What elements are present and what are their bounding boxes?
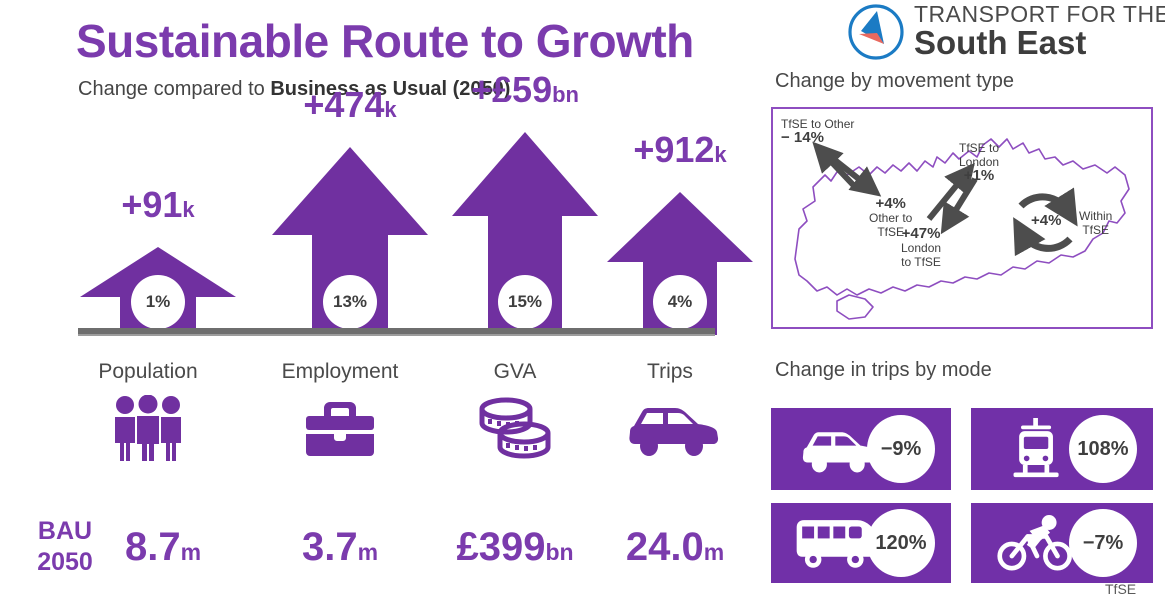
footer-tag: TfSE	[1105, 581, 1136, 597]
bau-value-employment: 3.7m	[285, 527, 395, 567]
category-label: GVA	[445, 360, 585, 384]
growth-arrow-gva: +£59bn 15%	[450, 130, 600, 335]
caption-london-to-tfse: Londonto TfSE	[901, 241, 941, 269]
growth-value-gva: +£59bn	[471, 72, 579, 108]
growth-percent-gva: 15%	[498, 275, 552, 329]
movement-section-heading: Change by movement type	[775, 70, 1014, 93]
movement-note-tfse-to-other: TfSE to Other − 14%	[781, 117, 854, 145]
bau-value-trips: 24.0m	[605, 527, 745, 567]
bau-label-line2: 2050	[26, 547, 104, 578]
chart-baseline	[78, 328, 715, 336]
mode-section-heading: Change in trips by mode	[775, 359, 992, 382]
category-population: Population	[78, 360, 218, 464]
mode-percent-cycling: −7%	[1069, 509, 1137, 577]
movement-note-within-tfse-percent: +4%	[1031, 214, 1061, 228]
category-label: Trips	[600, 360, 740, 384]
car-icon	[600, 392, 740, 464]
tfse-logo: TRANSPORT FOR THE South East	[846, 2, 1158, 64]
caption-tfse-to-london: TfSE toLondon	[959, 141, 999, 169]
people-icon	[78, 392, 218, 464]
subtitle-prefix: Change compared to	[78, 78, 270, 100]
category-label: Employment	[270, 360, 410, 384]
mode-percent-rail: 108%	[1069, 415, 1137, 483]
bau-label: BAU 2050	[26, 516, 104, 578]
category-trips: Trips	[600, 360, 740, 464]
mode-card-cycling[interactable]: −7%	[971, 503, 1153, 583]
growth-value-employment: +474k	[303, 87, 396, 123]
coins-icon	[445, 392, 585, 464]
mode-percent-bus: 120%	[867, 509, 935, 577]
bau-value-gva: £399bn	[440, 527, 590, 567]
growth-percent-employment: 13%	[323, 275, 377, 329]
logo-line-2: South East	[914, 26, 1164, 60]
category-gva: GVA	[445, 360, 585, 464]
growth-value-trips: +912k	[633, 132, 726, 168]
mode-card-bus[interactable]: 120%	[771, 503, 951, 583]
growth-percent-trips: 4%	[653, 275, 707, 329]
logo-line-1: TRANSPORT FOR THE	[914, 2, 1164, 26]
bau-label-line1: BAU	[26, 516, 104, 547]
tfse-arrow-logo-icon	[846, 2, 906, 62]
mode-card-car[interactable]: −9%	[771, 408, 951, 490]
briefcase-icon	[270, 392, 410, 464]
growth-arrow-trips: +912k 4%	[605, 190, 755, 335]
category-label: Population	[78, 360, 218, 384]
growth-arrow-population: +91k 1%	[78, 245, 238, 335]
caption-within-tfse: WithinTfSE	[1079, 209, 1112, 237]
growth-arrow-employment: +474k 13%	[270, 145, 430, 335]
growth-percent-population: 1%	[131, 275, 185, 329]
growth-arrow-chart: +91k 1% +474k 13% +£59bn 15%	[60, 100, 760, 335]
page-subtitle: Change compared to Business as Usual (20…	[78, 78, 510, 101]
infographic-canvas: Sustainable Route to Growth Change compa…	[0, 0, 1165, 608]
growth-value-population: +91k	[121, 187, 194, 223]
page-title: Sustainable Route to Growth	[76, 14, 694, 68]
movement-note-tfse-to-london: TfSE toLondon +1%	[959, 141, 999, 183]
logo-wordmark: TRANSPORT FOR THE South East	[914, 2, 1164, 60]
mode-percent-car: −9%	[867, 415, 935, 483]
category-employment: Employment	[270, 360, 410, 464]
bau-value-population: 8.7m	[108, 527, 218, 567]
mode-card-rail[interactable]: 108%	[971, 408, 1153, 490]
movement-note-london-to-tfse: +47% Londonto TfSE	[901, 227, 941, 269]
movement-map-panel: TfSE to Other − 14% +4% Other toTfSE TfS…	[771, 107, 1153, 329]
movement-note-within-tfse-caption: WithinTfSE	[1079, 209, 1112, 237]
